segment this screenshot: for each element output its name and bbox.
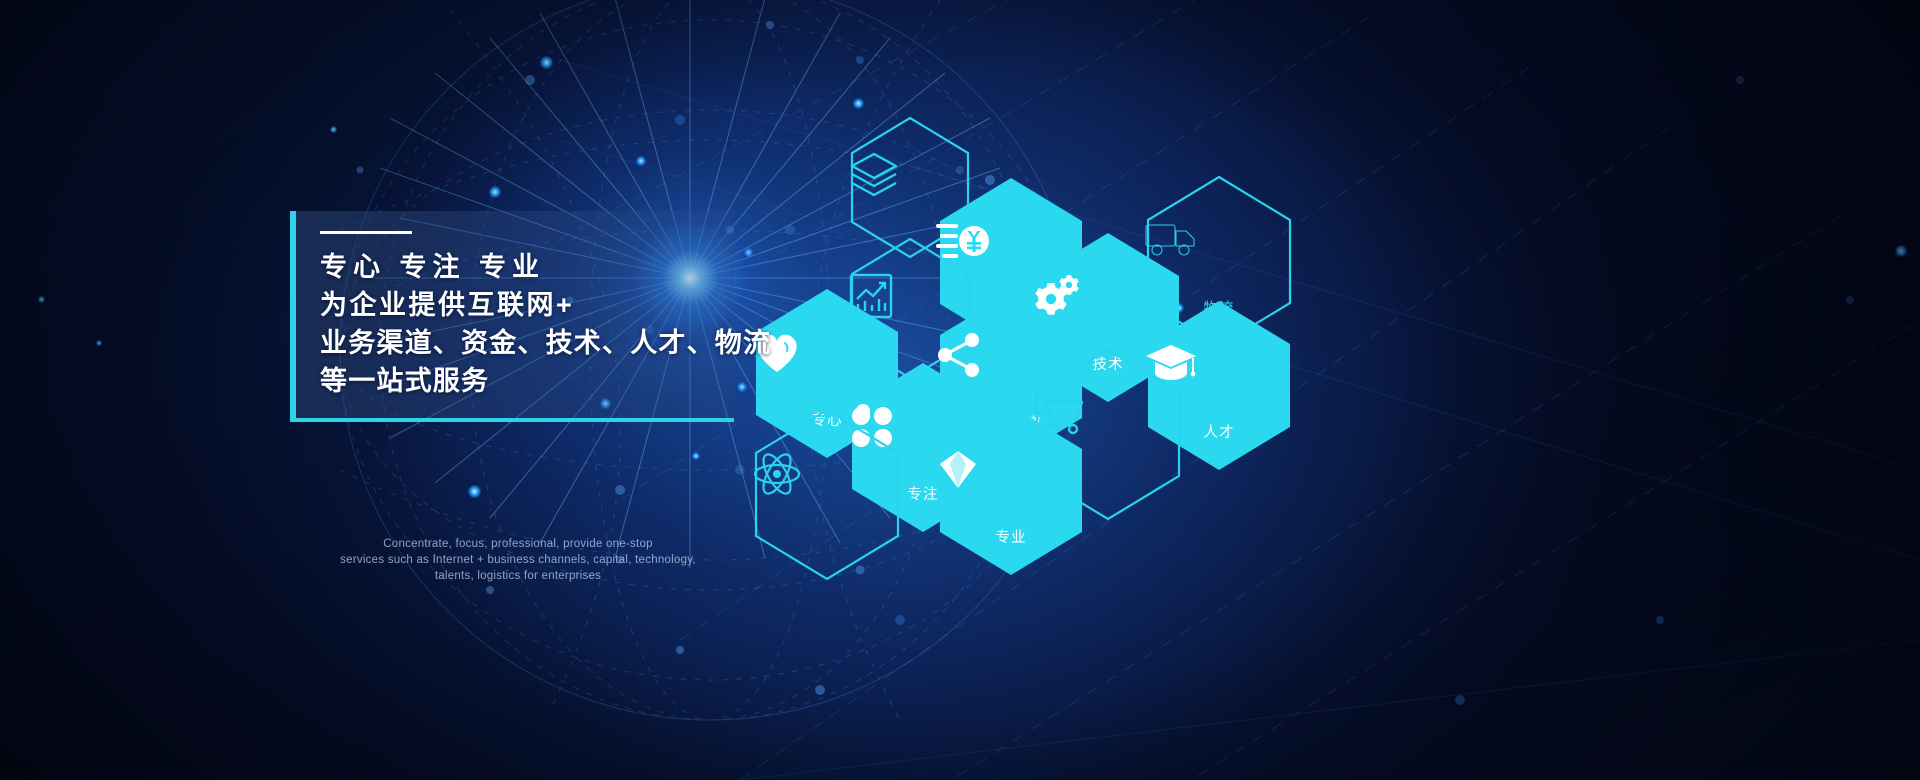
hexagon-cluster: 资金 物流 — [0, 0, 1920, 780]
headline-line-2: 为企业提供互联网+ — [320, 286, 726, 324]
subcaption-line-2: services such as Internet + business cha… — [318, 552, 718, 568]
subcaption: Concentrate, focus, professional, provid… — [318, 536, 718, 584]
subcaption-line-3: talents, logistics for enterprises — [318, 568, 718, 584]
accent-rule — [320, 231, 412, 234]
headline-line-1: 专心 专注 专业 — [320, 248, 726, 286]
banner-stage: 资金 物流 — [0, 0, 1920, 780]
subcaption-line-1: Concentrate, focus, professional, provid… — [318, 536, 718, 552]
hexagon-atom[interactable] — [752, 408, 902, 581]
headline-panel: 专心 专注 专业 为企业提供互联网+ 业务渠道、资金、技术、人才、物流 等一站式… — [290, 211, 734, 422]
headline-line-3: 业务渠道、资金、技术、人才、物流 — [320, 324, 726, 362]
headline-line-4: 等一站式服务 — [320, 362, 726, 400]
hexagon-professional[interactable]: 专业 — [936, 404, 1086, 577]
